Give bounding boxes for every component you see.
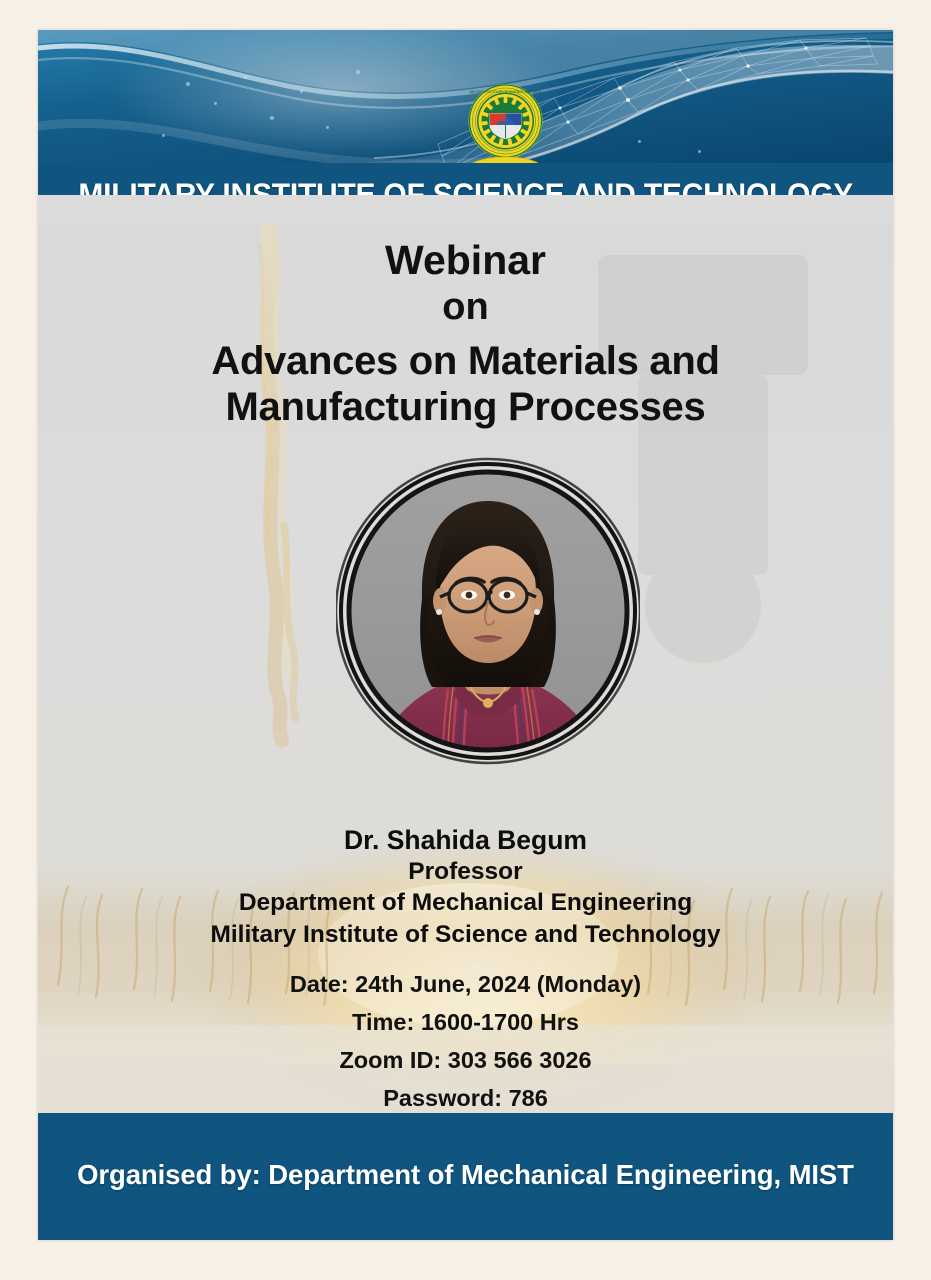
bokeh-dot (186, 82, 190, 86)
bokeh-dot (638, 140, 641, 143)
header-banner: MILITARY INSTITUTE OF SCIENCE AND TECH B… (38, 30, 893, 195)
speaker-designation: Professor (38, 857, 893, 888)
title-topic-line2: Manufacturing Processes (38, 384, 893, 430)
bokeh-dot (162, 134, 165, 137)
speaker-name: Dr. Shahida Begum (38, 825, 893, 857)
poster-content-area: Webinar on Advances on Materials and Man… (38, 225, 893, 1113)
event-time: Time: 1600-1700 Hrs (38, 1003, 893, 1041)
title-topic-line1: Advances on Materials and (38, 338, 893, 384)
bokeh-dot (300, 90, 303, 93)
footer-banner: Organised by: Department of Mechanical E… (38, 1113, 893, 1240)
speaker-portrait-svg (336, 449, 640, 787)
event-password: Password: 786 (38, 1079, 893, 1113)
bokeh-dot (356, 70, 360, 74)
institute-name-text: MILITARY INSTITUTE OF SCIENCE AND TECHNO… (78, 176, 853, 196)
bokeh-dot (326, 126, 329, 129)
bokeh-dot (270, 116, 274, 120)
event-zoom-id: Zoom ID: 303 566 3026 (38, 1041, 893, 1079)
title-block: Webinar on Advances on Materials and Man… (38, 237, 893, 430)
bokeh-dot (244, 76, 247, 79)
svg-text:MILITARY INSTITUTE OF SCIENCE: MILITARY INSTITUTE OF SCIENCE AND TECH (470, 90, 542, 94)
title-on: on (38, 284, 893, 332)
bokeh-dot (698, 150, 701, 153)
speaker-portrait (336, 449, 640, 787)
institute-name-bar: MILITARY INSTITUTE OF SCIENCE AND TECHNO… (38, 163, 893, 195)
event-date: Date: 24th June, 2024 (Monday) (38, 965, 893, 1003)
speaker-institute: Military Institute of Science and Techno… (38, 919, 893, 951)
bokeh-dot (214, 102, 217, 105)
organised-by-text: Organised by: Department of Mechanical E… (77, 1159, 854, 1191)
speaker-info-block: Dr. Shahida Begum Professor Department o… (38, 825, 893, 951)
speaker-department: Department of Mechanical Engineering (38, 887, 893, 919)
event-details-block: Date: 24th June, 2024 (Monday) Time: 160… (38, 965, 893, 1113)
webinar-poster: MILITARY INSTITUTE OF SCIENCE AND TECH B… (38, 30, 893, 1240)
title-webinar: Webinar (38, 237, 893, 284)
